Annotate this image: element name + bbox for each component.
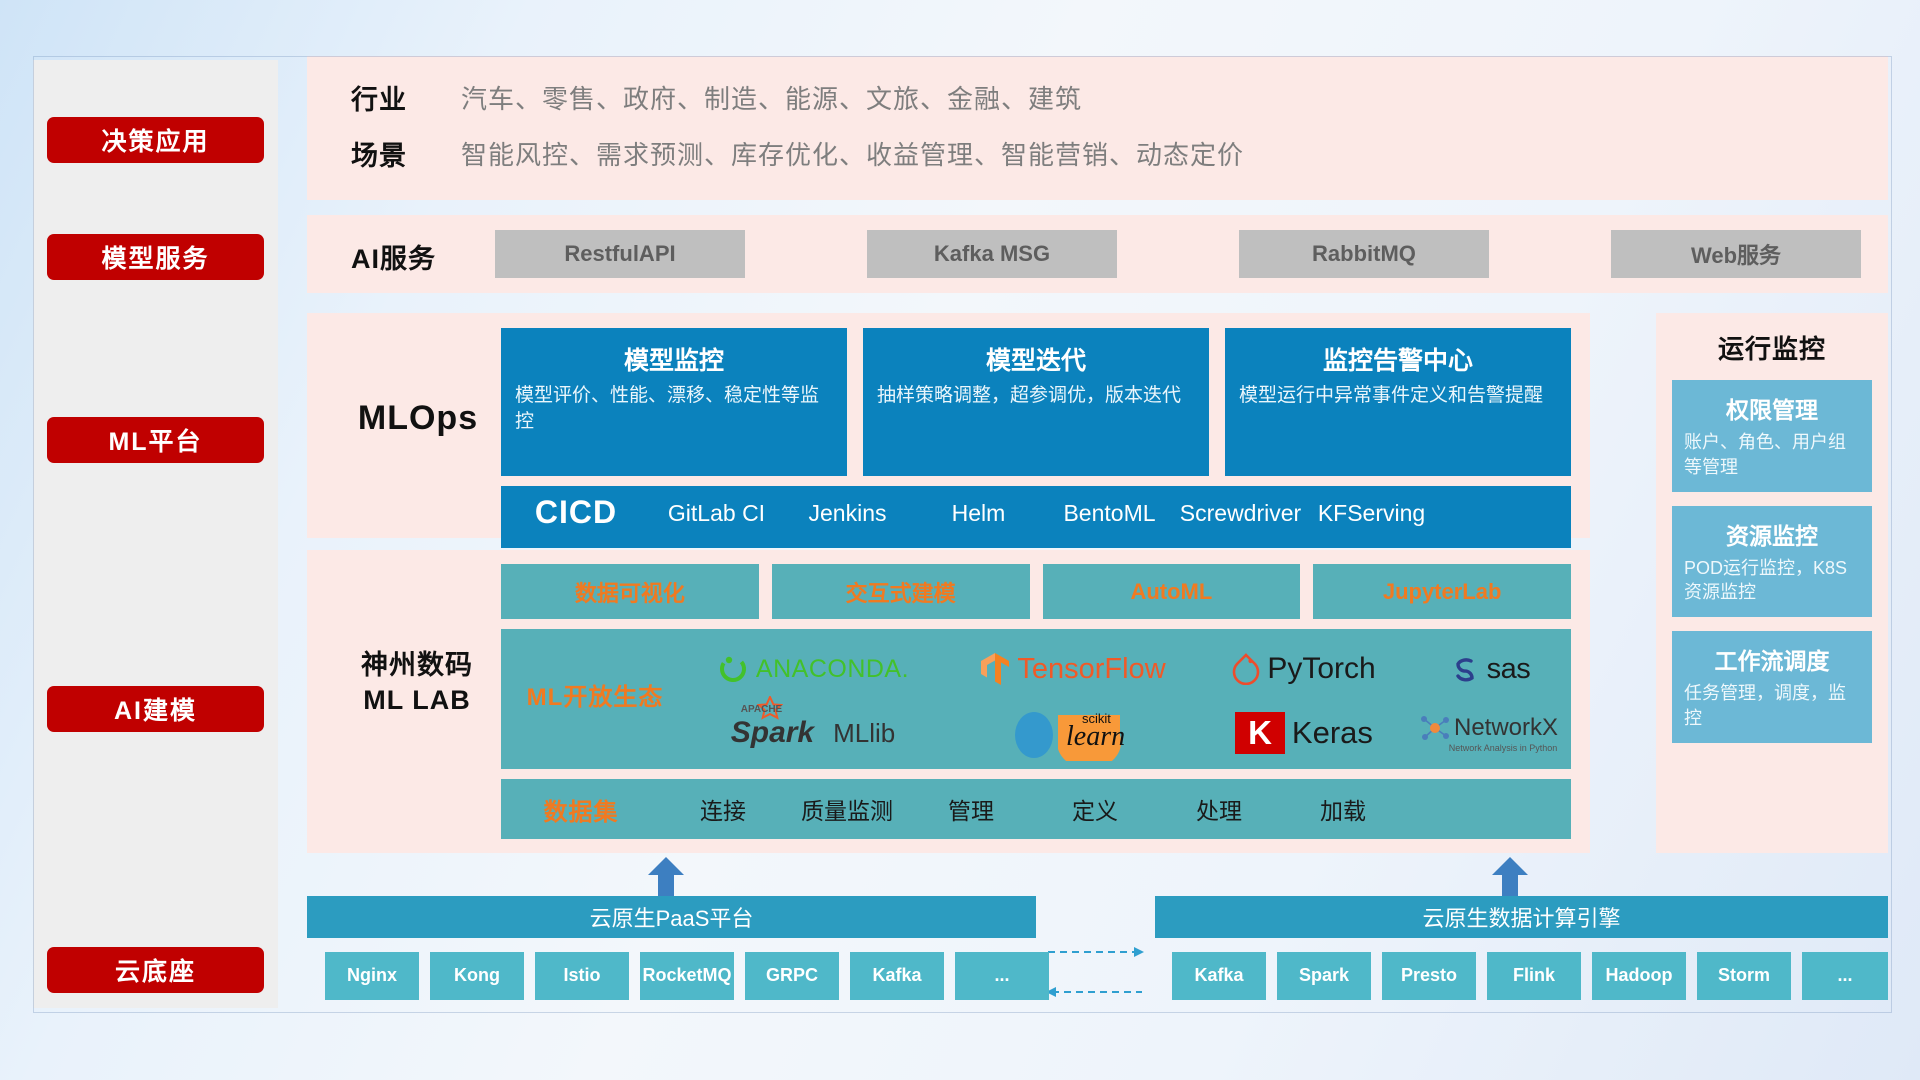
logo-anaconda: ANACONDA. xyxy=(677,653,949,685)
logo-row-2: APACHE Spark MLlib scikit xyxy=(677,701,1567,765)
bidirectional-dashed-connector xyxy=(1040,940,1150,1008)
mlops-card-model-iteration[interactable]: 模型迭代 抽样策略调整，超参调优，版本迭代 xyxy=(863,328,1209,476)
tab-interactive-modeling[interactable]: 交互式建模 xyxy=(772,564,1030,619)
ai-service-key: AI服务 xyxy=(351,237,436,276)
mlops-card-model-monitoring[interactable]: 模型监控 模型评价、性能、漂移、稳定性等监控 xyxy=(501,328,847,476)
arrow-up-dataengine xyxy=(1492,857,1528,897)
mlops-card-desc: 模型评价、性能、漂移、稳定性等监控 xyxy=(501,383,847,435)
tensorflow-icon xyxy=(980,652,1010,686)
chip-rocketmq[interactable]: RocketMQ xyxy=(640,952,734,1000)
networkx-icon xyxy=(1420,713,1450,743)
monitor-card-resource[interactable]: 资源监控 POD运行监控，K8S资源监控 xyxy=(1672,506,1872,618)
mlops-card-alert-center[interactable]: 监控告警中心 模型运行中异常事件定义和告警提醒 xyxy=(1225,328,1571,476)
chip-hadoop[interactable]: Hadoop xyxy=(1592,952,1686,1000)
layer-label-ml-platform[interactable]: ML平台 xyxy=(47,417,264,463)
industry-value: 汽车、零售、政府、制造、能源、文旅、金融、建筑 xyxy=(461,79,1082,116)
chip-flink[interactable]: Flink xyxy=(1487,952,1581,1000)
logo-networkx: NetworkX Network Analysis in Python xyxy=(1411,713,1567,753)
ai-service-panel: AI服务 RestfulAPI Kafka MSG RabbitMQ Web服务 xyxy=(307,215,1888,293)
dataset-item-manage[interactable]: 管理 xyxy=(909,792,1033,826)
ml-lab-key-line1: 神州数码 xyxy=(329,648,505,683)
service-button-web-service[interactable]: Web服务 xyxy=(1611,230,1861,278)
chip-kafka-right[interactable]: Kafka xyxy=(1172,952,1266,1000)
logo-learn-text: learn xyxy=(1066,721,1125,753)
scenario-value: 智能风控、需求预测、库存优化、收益管理、智能营销、动态定价 xyxy=(461,135,1244,172)
monitor-card-permission[interactable]: 权限管理 账户、角色、用户组等管理 xyxy=(1672,380,1872,492)
monitor-card-desc: 任务管理，调度，监控 xyxy=(1672,681,1872,731)
arrow-up-paas xyxy=(648,857,684,897)
logo-row-1: ANACONDA. TensorFlow xyxy=(677,637,1567,701)
cicd-item-jenkins[interactable]: Jenkins xyxy=(782,486,913,529)
ml-lab-panel: 神州数码 ML LAB 数据可视化 交互式建模 AutoML JupyterLa… xyxy=(307,550,1590,853)
chip-storm[interactable]: Storm xyxy=(1697,952,1791,1000)
tab-jupyterlab[interactable]: JupyterLab xyxy=(1313,564,1571,619)
ml-ecosystem-key: ML开放生态 xyxy=(515,677,675,712)
logo-keras: K Keras xyxy=(1197,712,1411,754)
cicd-title: CICD xyxy=(501,486,651,531)
sas-icon xyxy=(1448,653,1480,685)
mlops-card-title: 模型迭代 xyxy=(863,328,1209,383)
logo-tensorflow-text: TensorFlow xyxy=(1017,653,1165,686)
dashed-arrows-icon xyxy=(1040,940,1150,1008)
ml-lab-key-line2: ML LAB xyxy=(329,683,505,718)
paas-platform-bar[interactable]: 云原生PaaS平台 xyxy=(307,896,1036,938)
logo-keras-mark: K xyxy=(1235,712,1285,754)
logo-mllib-text: MLlib xyxy=(833,718,895,749)
dataset-item-connect[interactable]: 连接 xyxy=(661,792,785,826)
chip-spark[interactable]: Spark xyxy=(1277,952,1371,1000)
cicd-item-screwdriver[interactable]: Screwdriver xyxy=(1175,486,1306,529)
mlops-key: MLOps xyxy=(343,399,493,438)
logo-pytorch-text: PyTorch xyxy=(1267,652,1375,686)
layer-label-model-service[interactable]: 模型服务 xyxy=(47,234,264,280)
cicd-item-kfserving[interactable]: KFServing xyxy=(1306,486,1437,529)
monitor-card-title: 权限管理 xyxy=(1672,380,1872,430)
chip-presto[interactable]: Presto xyxy=(1382,952,1476,1000)
dataset-item-load[interactable]: 加载 xyxy=(1281,792,1405,826)
chip-grpc[interactable]: GRPC xyxy=(745,952,839,1000)
ml-ecosystem-logos: ANACONDA. TensorFlow xyxy=(677,633,1567,765)
tab-automl[interactable]: AutoML xyxy=(1043,564,1301,619)
logo-networkx-subtitle: Network Analysis in Python xyxy=(1449,743,1558,753)
layer-label-decision-app[interactable]: 决策应用 xyxy=(47,117,264,163)
monitor-card-desc: 账户、角色、用户组等管理 xyxy=(1672,430,1872,480)
mlops-card-desc: 抽样策略调整，超参调优，版本迭代 xyxy=(863,383,1209,409)
logo-sas: sas xyxy=(1411,653,1567,686)
scenario-key: 场景 xyxy=(351,134,461,173)
monitor-card-title: 资源监控 xyxy=(1672,506,1872,556)
scenario-row: 场景 智能风控、需求预测、库存优化、收益管理、智能营销、动态定价 xyxy=(351,134,1244,173)
logo-sas-text: sas xyxy=(1487,653,1531,686)
industry-row: 行业 汽车、零售、政府、制造、能源、文旅、金融、建筑 xyxy=(351,78,1082,117)
cicd-item-gitlab-ci[interactable]: GitLab CI xyxy=(651,486,782,529)
runtime-monitor-title: 运行监控 xyxy=(1656,313,1888,366)
logo-tensorflow: TensorFlow xyxy=(949,652,1197,686)
mlops-card-desc: 模型运行中异常事件定义和告警提醒 xyxy=(1225,383,1571,409)
cicd-item-bentoml[interactable]: BentoML xyxy=(1044,486,1175,529)
ml-lab-tab-row: 数据可视化 交互式建模 AutoML JupyterLab xyxy=(501,564,1571,619)
dataset-item-define[interactable]: 定义 xyxy=(1033,792,1157,826)
dataset-key: 数据集 xyxy=(501,792,661,827)
layer-label-ai-modeling[interactable]: AI建模 xyxy=(47,686,264,732)
logo-networkx-text: NetworkX xyxy=(1454,714,1558,742)
dataset-item-process[interactable]: 处理 xyxy=(1157,792,1281,826)
logo-pytorch: PyTorch xyxy=(1197,652,1411,686)
industry-scenario-panel: 行业 汽车、零售、政府、制造、能源、文旅、金融、建筑 场景 智能风控、需求预测、… xyxy=(307,56,1888,200)
monitor-card-title: 工作流调度 xyxy=(1672,631,1872,681)
mlops-panel: MLOps 模型监控 模型评价、性能、漂移、稳定性等监控 模型迭代 抽样策略调整… xyxy=(307,313,1590,538)
ml-lab-key: 神州数码 ML LAB xyxy=(329,648,505,718)
runtime-monitor-panel: 运行监控 权限管理 账户、角色、用户组等管理 资源监控 POD运行监控，K8S资… xyxy=(1656,313,1888,853)
chip-more-right[interactable]: ... xyxy=(1802,952,1888,1000)
logo-spark-mllib: APACHE Spark MLlib xyxy=(677,716,949,750)
dataset-item-quality[interactable]: 质量监测 xyxy=(785,792,909,826)
anaconda-icon xyxy=(717,653,749,685)
tab-data-visualization[interactable]: 数据可视化 xyxy=(501,564,759,619)
layer-label-cloud-base[interactable]: 云底座 xyxy=(47,947,264,993)
layer-label-column: 决策应用 模型服务 ML平台 AI建模 云底座 xyxy=(33,60,278,1008)
pytorch-icon xyxy=(1232,653,1260,685)
logo-scikit-learn: scikit learn xyxy=(949,705,1197,761)
logo-keras-text: Keras xyxy=(1292,715,1373,751)
service-button-restfulapi[interactable]: RestfulAPI xyxy=(495,230,745,278)
dataset-bar: 数据集 连接 质量监测 管理 定义 处理 加载 xyxy=(501,779,1571,839)
cicd-item-helm[interactable]: Helm xyxy=(913,486,1044,529)
ml-ecosystem-box: ML开放生态 ANACONDA. xyxy=(501,629,1571,769)
chip-more-left[interactable]: ... xyxy=(955,952,1049,1000)
service-button-kafka-msg[interactable]: Kafka MSG xyxy=(867,230,1117,278)
monitor-card-workflow[interactable]: 工作流调度 任务管理，调度，监控 xyxy=(1672,631,1872,743)
industry-key: 行业 xyxy=(351,78,461,117)
monitor-card-desc: POD运行监控，K8S资源监控 xyxy=(1672,556,1872,606)
cicd-bar: CICD GitLab CI Jenkins Helm BentoML Scre… xyxy=(501,486,1571,548)
diagram-canvas: 决策应用 模型服务 ML平台 AI建模 云底座 行业 汽车、零售、政府、制造、能… xyxy=(0,0,1920,1080)
chip-istio[interactable]: Istio xyxy=(535,952,629,1000)
logo-anaconda-text: ANACONDA. xyxy=(756,655,909,684)
logo-spark-apache-text: APACHE xyxy=(741,704,782,715)
chip-kafka-left[interactable]: Kafka xyxy=(850,952,944,1000)
chip-nginx[interactable]: Nginx xyxy=(325,952,419,1000)
chip-kong[interactable]: Kong xyxy=(430,952,524,1000)
data-engine-bar[interactable]: 云原生数据计算引擎 xyxy=(1155,896,1888,938)
mlops-card-title: 模型监控 xyxy=(501,328,847,383)
mlops-card-title: 监控告警中心 xyxy=(1225,328,1571,383)
service-button-rabbitmq[interactable]: RabbitMQ xyxy=(1239,230,1489,278)
